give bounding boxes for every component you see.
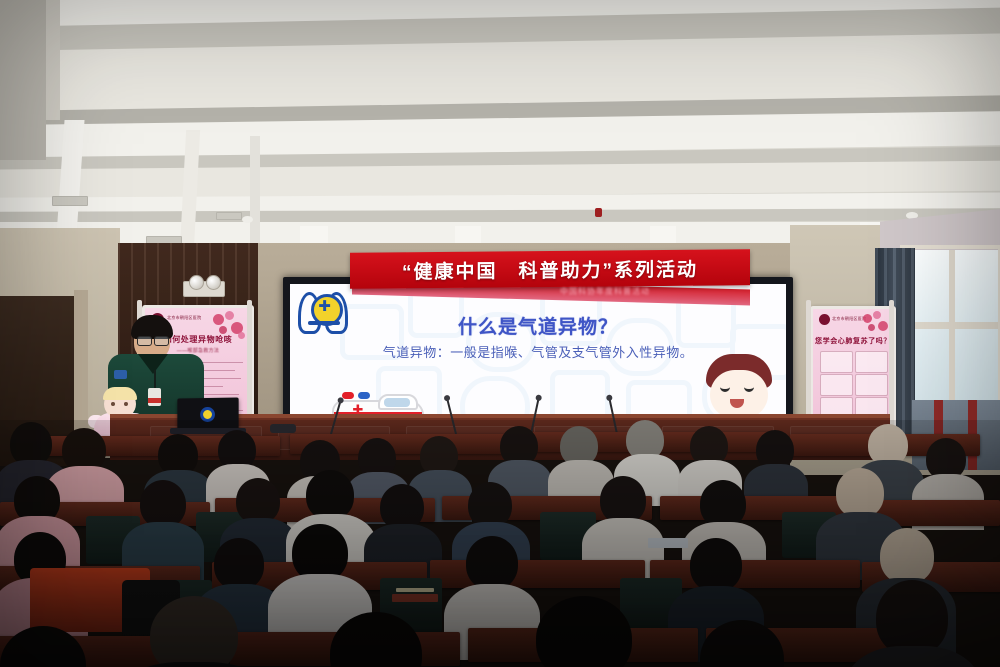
- event-banner-subtext: 中国科协年度科普活动: [560, 286, 740, 298]
- fire-sprinkler-icon: [595, 208, 602, 217]
- slide-title: 什么是气道异物？: [290, 312, 786, 339]
- pen-on-desk: [396, 588, 434, 592]
- ceiling: [0, 0, 1000, 250]
- glasses-icon: [137, 336, 152, 346]
- audience-area: [0, 420, 1000, 667]
- seat-row[interactable]: [430, 560, 645, 588]
- auditorium-scene: 北京市朝阳区医院 如何处理异物呛咳 ——喉部急救方法 北京市朝阳区医院 您学会心: [0, 0, 1000, 667]
- downlight-icon: [242, 216, 253, 223]
- poster-right-title: 您学会心肺复苏了吗？: [813, 336, 893, 346]
- poster-right-logo-icon: [819, 314, 830, 325]
- uniform-patch-icon: [114, 370, 127, 379]
- booklet-on-desk: [392, 594, 438, 602]
- event-banner: “健康中国 科普助力”系列活动: [350, 249, 750, 288]
- emergency-light-icon: [183, 281, 225, 297]
- ceiling-vent: [52, 196, 88, 206]
- glasses-icon: [154, 336, 169, 346]
- plum-blossom-graphic: [857, 311, 891, 337]
- lanyard-icon: [154, 370, 156, 390]
- ceiling-vent: [216, 212, 242, 220]
- paper-on-desk: [648, 538, 688, 548]
- event-banner-text: “健康中国 科普助力”系列活动: [350, 249, 750, 288]
